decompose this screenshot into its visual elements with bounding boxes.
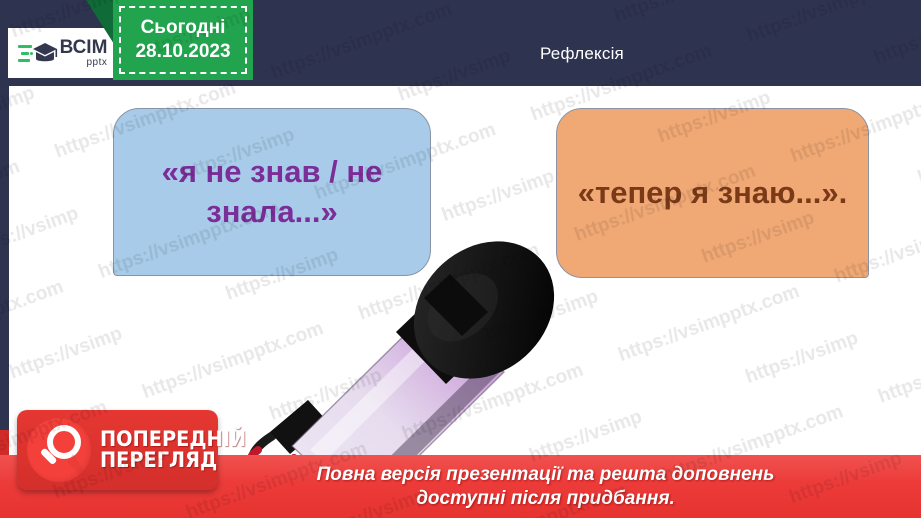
preview-badge[interactable]: ПОПЕРЕДНІЙ ПЕРЕГЛЯД <box>17 410 218 490</box>
date-badge-label: Сьогодні <box>141 16 226 40</box>
slide-title-bar: Рефлексія <box>259 32 905 75</box>
graduation-cap-icon <box>17 38 57 68</box>
reflection-box-after: «тепер я знаю...». <box>556 108 869 278</box>
today-date-badge: Сьогодні 28.10.2023 <box>113 0 253 80</box>
reflection-text-before: «я не знав / не знала...» <box>132 152 412 231</box>
banner-line-2: доступні після придбання. <box>317 487 775 511</box>
ribbon-fold-decoration <box>86 0 114 44</box>
slide-canvas: ВСІМ pptx Сьогодні 28.10.2023 Рефлексія … <box>0 0 921 518</box>
banner-line-1: Повна версія презентації та решта доповн… <box>317 463 775 487</box>
preview-badge-line-1: ПОПЕРЕДНІЙ <box>100 429 246 450</box>
date-badge-value: 28.10.2023 <box>135 40 230 64</box>
magnifier-icon <box>27 418 91 482</box>
reflection-text-after: «тепер я знаю...». <box>578 173 847 213</box>
microphone-illustration <box>236 236 596 488</box>
preview-badge-line-2: ПЕРЕГЛЯД <box>100 450 246 471</box>
left-edge-strip <box>0 86 9 430</box>
page-title: Рефлексія <box>540 44 624 64</box>
logo-suffix-text: pptx <box>60 58 108 68</box>
